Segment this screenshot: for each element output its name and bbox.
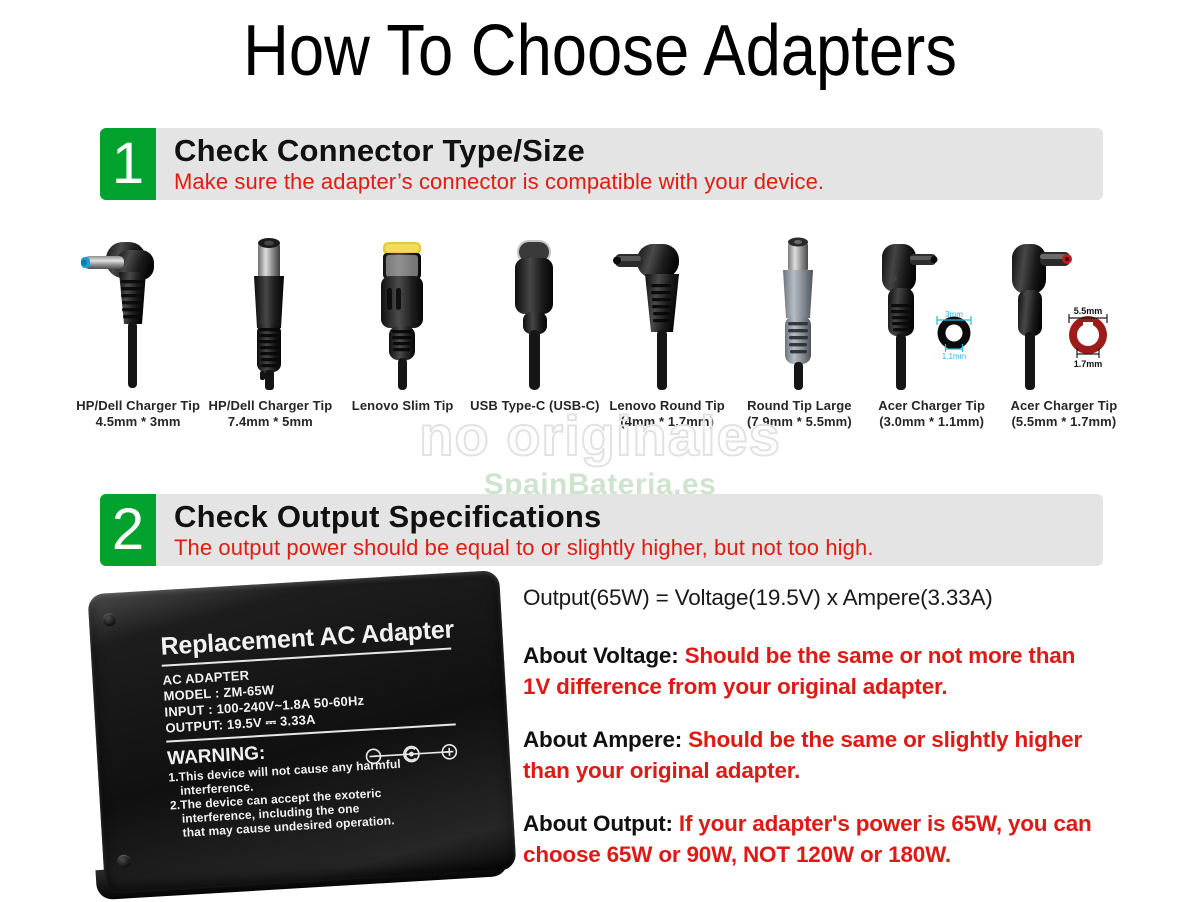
adapter-label-plate: Replacement AC Adapter AC ADAPTER MODEL …: [160, 616, 462, 851]
connector-name: HP/Dell Charger Tip: [72, 398, 204, 414]
step-1-header: 1 Check Connector Type/Size Make sure th…: [100, 128, 1103, 200]
about-output-label: About Output:: [523, 811, 673, 836]
connector-item: Round Tip Large (7.9mm * 5.5mm): [733, 232, 865, 442]
connector-item: 5.5mm 1.7mm Acer Charger Tip (5.5mm * 1.…: [998, 232, 1130, 442]
acer-30-connector-icon: 3mm 1.1mm: [866, 232, 998, 390]
lenovo-round-tip-connector-icon: [601, 232, 733, 390]
screw-icon: [103, 613, 117, 627]
acer-30-callout: 3mm 1.1mm: [937, 310, 971, 361]
connector-size: 7.4mm * 5mm: [204, 414, 336, 430]
screw-icon: [117, 854, 131, 868]
step-1-number-badge: 1: [100, 128, 156, 200]
connector-name: USB Type-C (USB-C): [469, 398, 601, 414]
about-ampere-paragraph: About Ampere: Should be the same or slig…: [523, 724, 1101, 786]
connector-caption: USB Type-C (USB-C): [469, 398, 601, 414]
step-1-subtitle: Make sure the adapter’s connector is com…: [174, 168, 1103, 195]
step-1-text-group: Check Connector Type/Size Make sure the …: [156, 128, 1103, 200]
svg-text:3mm: 3mm: [945, 310, 963, 319]
connector-item: USB Type-C (USB-C): [469, 232, 601, 442]
hp-dell-45-connector-icon: [72, 232, 204, 390]
connector-caption: HP/Dell Charger Tip 4.5mm * 3mm: [72, 398, 204, 430]
output-spec-explanations: Output(65W) = Voltage(19.5V) x Ampere(3.…: [523, 582, 1101, 870]
connector-size: (5.5mm * 1.7mm): [998, 414, 1130, 430]
connector-size: (4mm * 1.7mm): [601, 414, 733, 430]
svg-text:1.1mm: 1.1mm: [941, 352, 966, 361]
ac-adapter-photo: Replacement AC Adapter AC ADAPTER MODEL …: [88, 572, 518, 902]
svg-text:1.7mm: 1.7mm: [1074, 359, 1103, 369]
connector-name: HP/Dell Charger Tip: [204, 398, 336, 414]
connector-caption: Lenovo Slim Tip: [337, 398, 469, 414]
svg-text:5.5mm: 5.5mm: [1074, 306, 1103, 316]
connector-caption: Round Tip Large (7.9mm * 5.5mm): [733, 398, 865, 430]
connector-name: Acer Charger Tip: [866, 398, 998, 414]
connector-item: 3mm 1.1mm Acer Charger Tip (3.0mm * 1.1m…: [866, 232, 998, 442]
connector-item: Lenovo Slim Tip: [337, 232, 469, 442]
connector-size: (7.9mm * 5.5mm): [733, 414, 865, 430]
usb-type-c-connector-icon: [469, 232, 601, 390]
connector-gallery: HP/Dell Charger Tip 4.5mm * 3mm: [72, 232, 1130, 442]
hp-dell-74-connector-icon: [204, 232, 336, 390]
about-voltage-paragraph: About Voltage: Should be the same or not…: [523, 640, 1101, 702]
connector-item: HP/Dell Charger Tip 7.4mm * 5mm: [204, 232, 336, 442]
step-2-header: 2 Check Output Specifications The output…: [100, 494, 1103, 566]
step-2-subtitle: The output power should be equal to or s…: [174, 534, 1103, 561]
connector-size: 4.5mm * 3mm: [72, 414, 204, 430]
connector-item: Lenovo Round Tip (4mm * 1.7mm): [601, 232, 733, 442]
connector-caption: Acer Charger Tip (3.0mm * 1.1mm): [866, 398, 998, 430]
connector-caption: Lenovo Round Tip (4mm * 1.7mm): [601, 398, 733, 430]
acer-55-callout: 5.5mm 1.7mm: [1069, 306, 1107, 369]
connector-name: Round Tip Large: [733, 398, 865, 414]
connector-caption: HP/Dell Charger Tip 7.4mm * 5mm: [204, 398, 336, 430]
page-title: How To Choose Adapters: [72, 8, 1128, 94]
step-1-title: Check Connector Type/Size: [174, 134, 1103, 168]
step-2-title: Check Output Specifications: [174, 500, 1103, 534]
step-2-text-group: Check Output Specifications The output p…: [156, 494, 1103, 566]
output-equation: Output(65W) = Voltage(19.5V) x Ampere(3.…: [523, 582, 1101, 613]
round-tip-large-connector-icon: [733, 232, 865, 390]
connector-caption: Acer Charger Tip (5.5mm * 1.7mm): [998, 398, 1130, 430]
connector-name: Acer Charger Tip: [998, 398, 1130, 414]
connector-name: Lenovo Slim Tip: [337, 398, 469, 414]
lenovo-slim-tip-connector-icon: [337, 232, 469, 390]
connector-name: Lenovo Round Tip: [601, 398, 733, 414]
step-2-number-badge: 2: [100, 494, 156, 566]
about-voltage-label: About Voltage:: [523, 643, 679, 668]
acer-55-connector-icon: 5.5mm 1.7mm: [998, 232, 1130, 390]
connector-size: (3.0mm * 1.1mm): [866, 414, 998, 430]
about-output-paragraph: About Output: If your adapter's power is…: [523, 808, 1101, 870]
about-ampere-label: About Ampere:: [523, 727, 682, 752]
connector-item: HP/Dell Charger Tip 4.5mm * 3mm: [72, 232, 204, 442]
